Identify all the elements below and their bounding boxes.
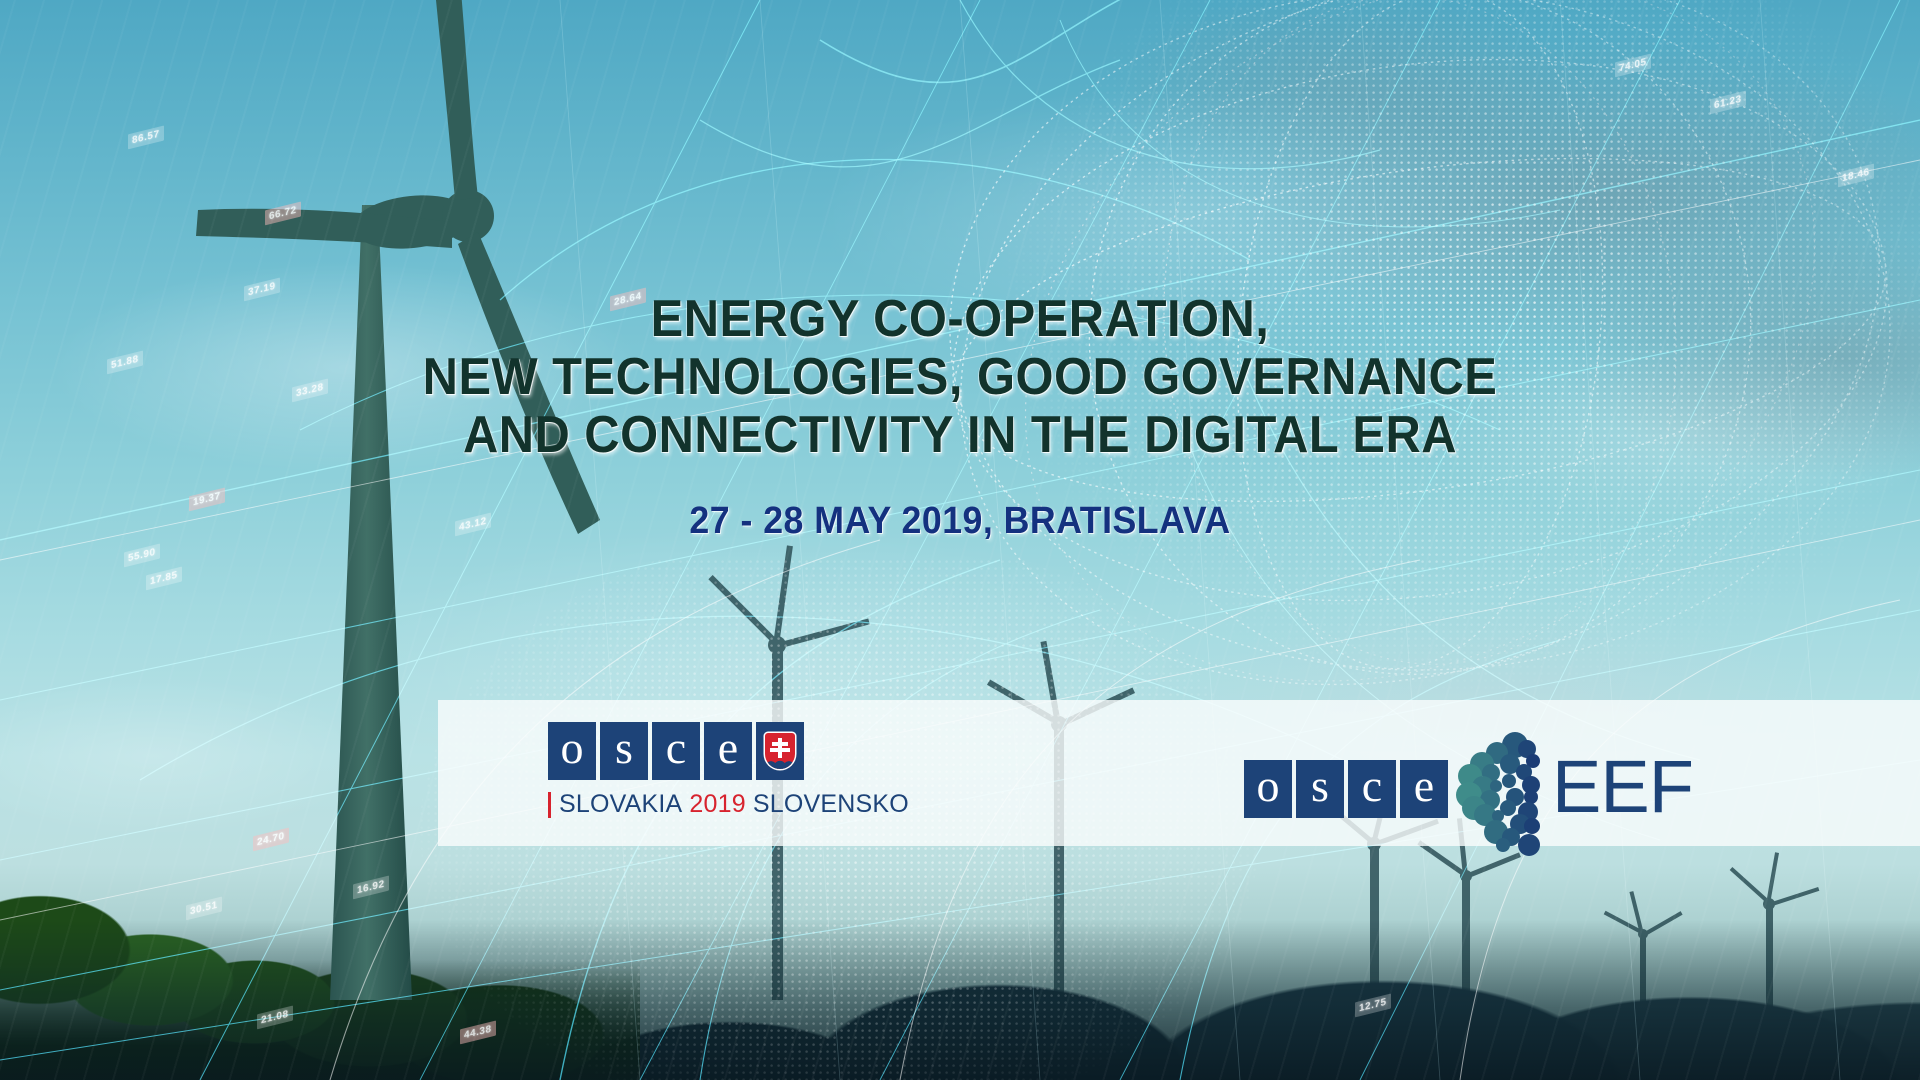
eef-dot-cluster-icon: [1456, 730, 1542, 848]
slovakia-caption: SLOVAKIA 2019 SLOVENSKO: [548, 790, 909, 819]
caption-year: 2019: [689, 790, 745, 819]
eef-osce-box-s: s: [1296, 760, 1344, 818]
caption-slovakia: SLOVAKIA: [559, 790, 682, 819]
caption-slovensko: SLOVENSKO: [753, 790, 909, 819]
osce-slovakia-2019-logo: o s c e SLOVAKIA 2019 SLOVENSKO: [548, 722, 909, 819]
slovak-coat-of-arms-icon: [756, 722, 804, 780]
eef-osce-letter-e: e: [1414, 763, 1434, 809]
eef-osce-box-e: e: [1400, 760, 1448, 818]
crest-cross-bar-upper: [772, 742, 788, 746]
osce-box-s: s: [600, 722, 648, 780]
caption-red-bar: [548, 792, 551, 818]
eef-osce-box-c: c: [1348, 760, 1396, 818]
eef-osce-letter-boxes: o s c e: [1244, 760, 1448, 818]
poster-canvas: 86.5766.7237.1951.8833.2819.3755.9017.85…: [0, 0, 1920, 1080]
osce-letter-c: c: [666, 725, 686, 771]
crest-cross-bar-lower: [770, 748, 790, 752]
date-location-line: 27 - 28 MAY 2019, BRATISLAVA: [58, 500, 1863, 543]
eef-wordmark: EEF: [1552, 750, 1693, 824]
osce-box-e: e: [704, 722, 752, 780]
eef-osce-box-o: o: [1244, 760, 1292, 818]
eef-dot: [1524, 818, 1540, 834]
osce-letter-o: o: [561, 725, 584, 771]
crest-shield: [765, 733, 795, 769]
eef-osce-letter-o: o: [1257, 763, 1280, 809]
eef-osce-letter-s: s: [1311, 763, 1329, 809]
osce-box-c: c: [652, 722, 700, 780]
title-block: ENERGY CO-OPERATION, NEW TECHNOLOGIES, G…: [0, 290, 1920, 543]
eef-dot: [1518, 834, 1540, 856]
eef-dot: [1496, 838, 1510, 852]
eef-osce-letter-c: c: [1362, 763, 1382, 809]
osce-letter-s: s: [615, 725, 633, 771]
osce-eef-logo: o s c e EEF: [1244, 730, 1693, 848]
title-line-3: AND CONNECTIVITY IN THE DIGITAL ERA: [58, 406, 1863, 464]
title-line-1: ENERGY CO-OPERATION,: [58, 290, 1863, 348]
logo-band: o s c e SLOVAKIA 2019 SLOVENSKO: [438, 700, 1920, 846]
osce-box-o: o: [548, 722, 596, 780]
eef-dot: [1502, 774, 1516, 788]
title-line-2: NEW TECHNOLOGIES, GOOD GOVERNANCE: [58, 348, 1863, 406]
osce-letter-boxes: o s c e: [548, 722, 909, 780]
osce-letter-e: e: [718, 725, 738, 771]
